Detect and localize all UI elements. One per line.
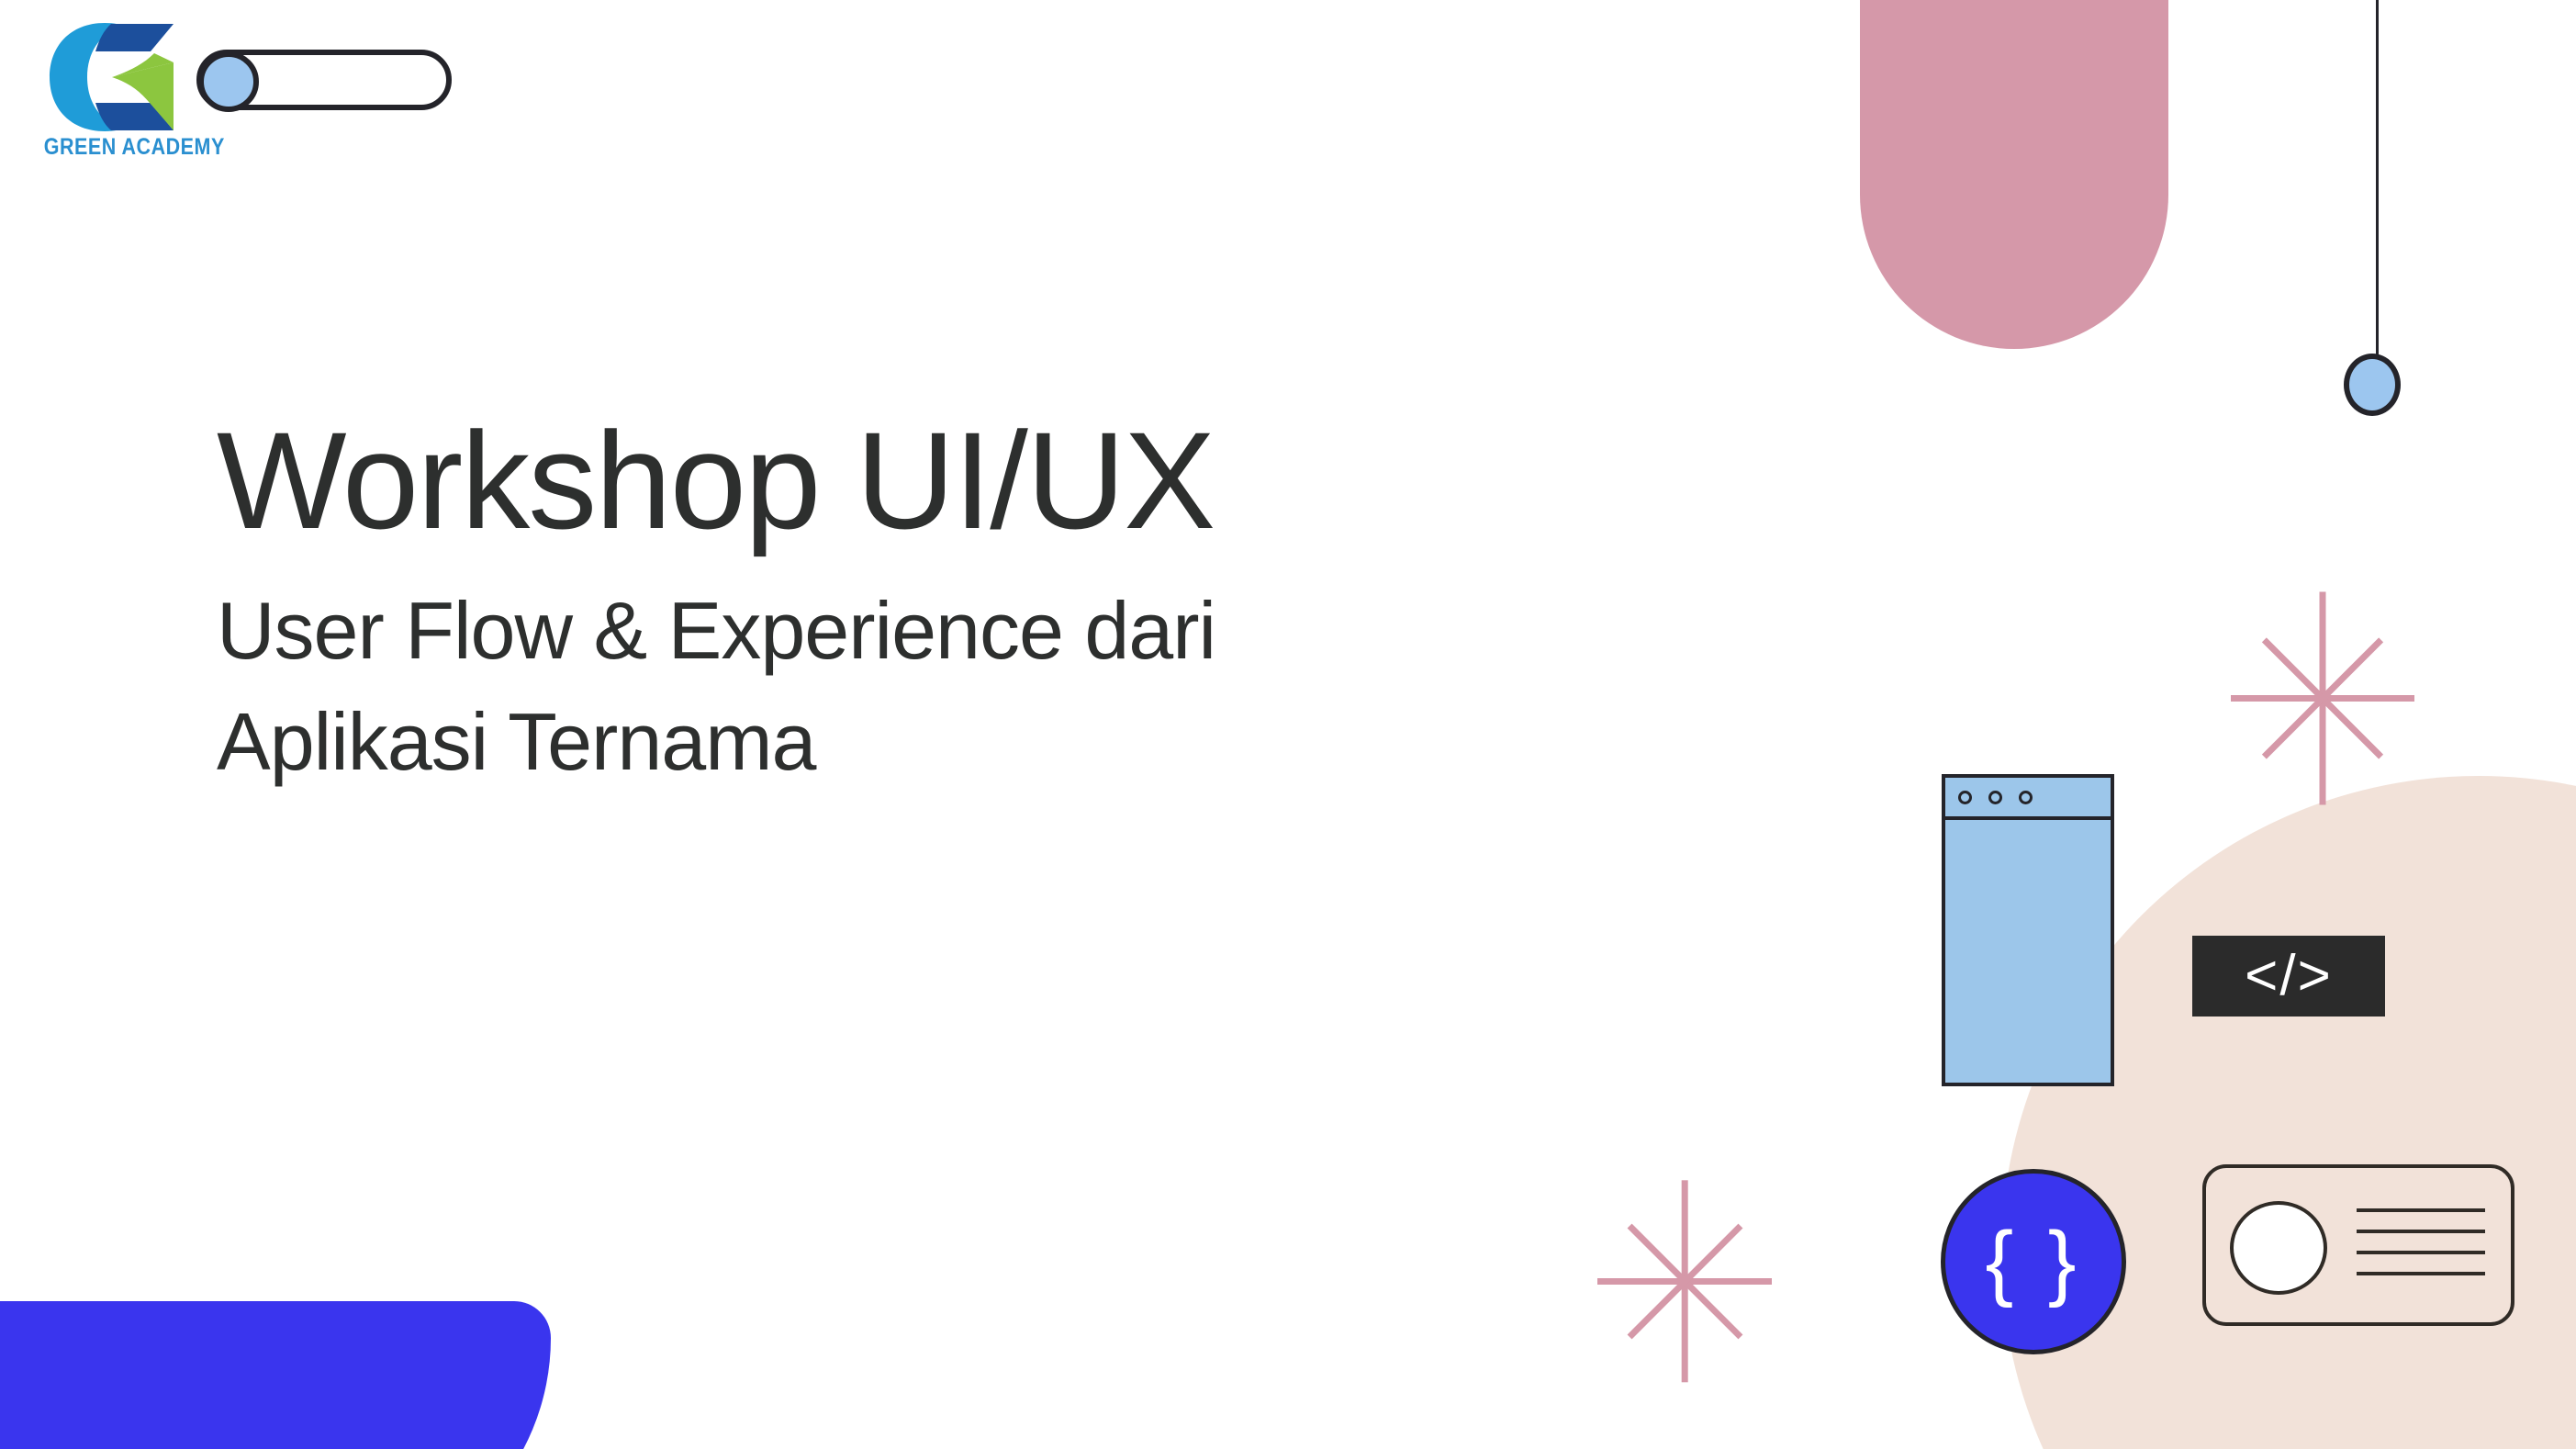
sparkle-star-upper <box>2231 606 2414 790</box>
window-title-bar <box>1945 778 2111 820</box>
profile-line <box>2357 1208 2485 1212</box>
page-subtitle: User Flow & Experience dari Aplikasi Ter… <box>217 575 1704 798</box>
pink-rounded-pill-shape <box>1860 0 2168 349</box>
brand-name-label: GREEN ACADEMY <box>44 134 176 161</box>
curly-braces-icon: { } <box>1985 1219 2081 1304</box>
avatar <box>2230 1201 2327 1295</box>
pendulum-string <box>2376 0 2379 360</box>
profile-line <box>2357 1251 2485 1254</box>
page-title: Workshop UI/UX <box>217 411 1704 549</box>
code-tag-icon: </> <box>2245 948 2333 1005</box>
brand-logo: GREEN ACADEMY <box>33 20 187 167</box>
slide-canvas: GREEN ACADEMY Workshop UI/UX User Flow &… <box>0 0 2576 1449</box>
code-tag-box: </> <box>2192 936 2385 1017</box>
window-dot-icon <box>1988 791 2002 804</box>
window-dot-icon <box>1958 791 1972 804</box>
browser-window-mockup <box>1942 774 2114 1086</box>
headline-block: Workshop UI/UX User Flow & Experience da… <box>217 411 1704 798</box>
sparkle-star-lower <box>1597 1194 1772 1368</box>
pendulum-bob-circle <box>2344 354 2401 416</box>
toggle-knob[interactable] <box>198 51 259 112</box>
profile-text-lines <box>2357 1208 2485 1293</box>
blue-rounded-corner-shape <box>0 1301 551 1449</box>
subtitle-line-1: User Flow & Experience dari <box>217 575 1704 686</box>
profile-line <box>2357 1272 2485 1275</box>
profile-card-mockup <box>2202 1164 2514 1326</box>
green-academy-g-logo <box>42 20 178 134</box>
curly-braces-circle: { } <box>1941 1169 2126 1354</box>
subtitle-line-2: Aplikasi Ternama <box>217 686 1704 797</box>
toggle-switch[interactable] <box>196 50 452 110</box>
profile-line <box>2357 1230 2485 1233</box>
window-dot-icon <box>2019 791 2033 804</box>
